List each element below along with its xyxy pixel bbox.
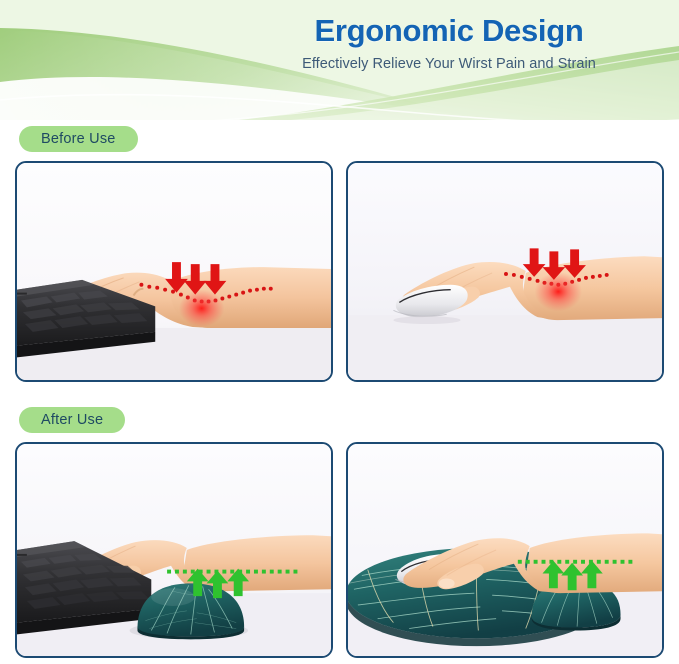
green-dotted-line (518, 560, 633, 564)
photo-panel-after-mouse (346, 442, 664, 658)
pain-hotspot (179, 290, 224, 327)
scene-after-mouse (348, 444, 662, 656)
scene-before-mouse (348, 163, 662, 380)
green-up-arrows (187, 569, 249, 598)
scene-before-keyboard (17, 163, 331, 380)
red-down-arrows (165, 262, 226, 294)
page-title: Ergonomic Design (239, 14, 659, 49)
header-title-block: Ergonomic Design Effectively Relieve You… (239, 14, 659, 72)
badge-before-label: Before Use (41, 131, 116, 147)
photo-panel-after-keyboard (15, 442, 333, 658)
section-badge-after-use: After Use (19, 407, 125, 433)
header-banner: Ergonomic Design Effectively Relieve You… (0, 0, 679, 120)
page-subtitle: Effectively Relieve Your Wirst Pain and … (239, 56, 659, 72)
scene-after-keyboard (17, 444, 331, 656)
badge-after-label: After Use (41, 412, 103, 428)
green-up-arrows (543, 561, 603, 590)
pain-hotspot (535, 272, 582, 311)
green-dotted-line (167, 570, 297, 574)
photo-panel-before-keyboard (15, 161, 333, 382)
section-badge-before-use: Before Use (19, 126, 138, 152)
photo-panel-before-mouse (346, 161, 664, 382)
